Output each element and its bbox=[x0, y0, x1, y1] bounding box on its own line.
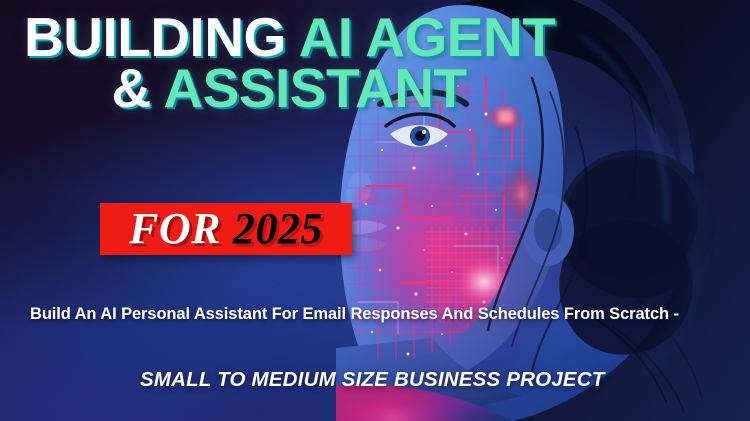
subtitle: Build An AI Personal Assistant For Email… bbox=[30, 305, 679, 324]
tagline: SMALL TO MEDIUM SIZE BUSINESS PROJECT bbox=[140, 368, 605, 392]
badge-year-value: 2025 bbox=[233, 207, 323, 251]
badge-for-label: FOR bbox=[129, 207, 221, 251]
promo-banner: BUILDING AI AGENT & ASSISTANT FOR 2025 B… bbox=[0, 0, 750, 421]
year-badge: FOR 2025 bbox=[100, 203, 352, 255]
woman-profile-portrait bbox=[336, 0, 750, 421]
